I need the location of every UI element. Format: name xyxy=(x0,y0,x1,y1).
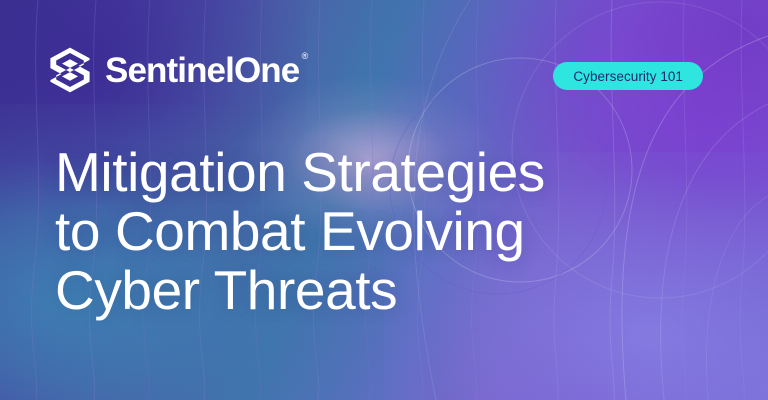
page-title: Mitigation Strategies to Combat Evolving… xyxy=(55,143,715,320)
sentinelone-hexagon-s-icon xyxy=(48,46,92,94)
wordmark-text: SentinelOne xyxy=(105,51,299,90)
registered-trademark-icon: ® xyxy=(302,52,309,61)
category-badge-cybersecurity-101[interactable]: Cybersecurity 101 xyxy=(553,62,703,90)
banner-content: SentinelOne ® Cybersecurity 101 Mitigati… xyxy=(0,0,768,400)
headline-line-3: Cyber Threats xyxy=(55,261,715,320)
headline-line-1: Mitigation Strategies xyxy=(55,143,715,202)
headline-line-2: to Combat Evolving xyxy=(55,202,715,261)
cybersecurity-101-banner: SentinelOne ® Cybersecurity 101 Mitigati… xyxy=(0,0,768,400)
sentinelone-wordmark: SentinelOne ® xyxy=(105,53,299,88)
sentinelone-logo[interactable]: SentinelOne ® xyxy=(48,46,299,94)
